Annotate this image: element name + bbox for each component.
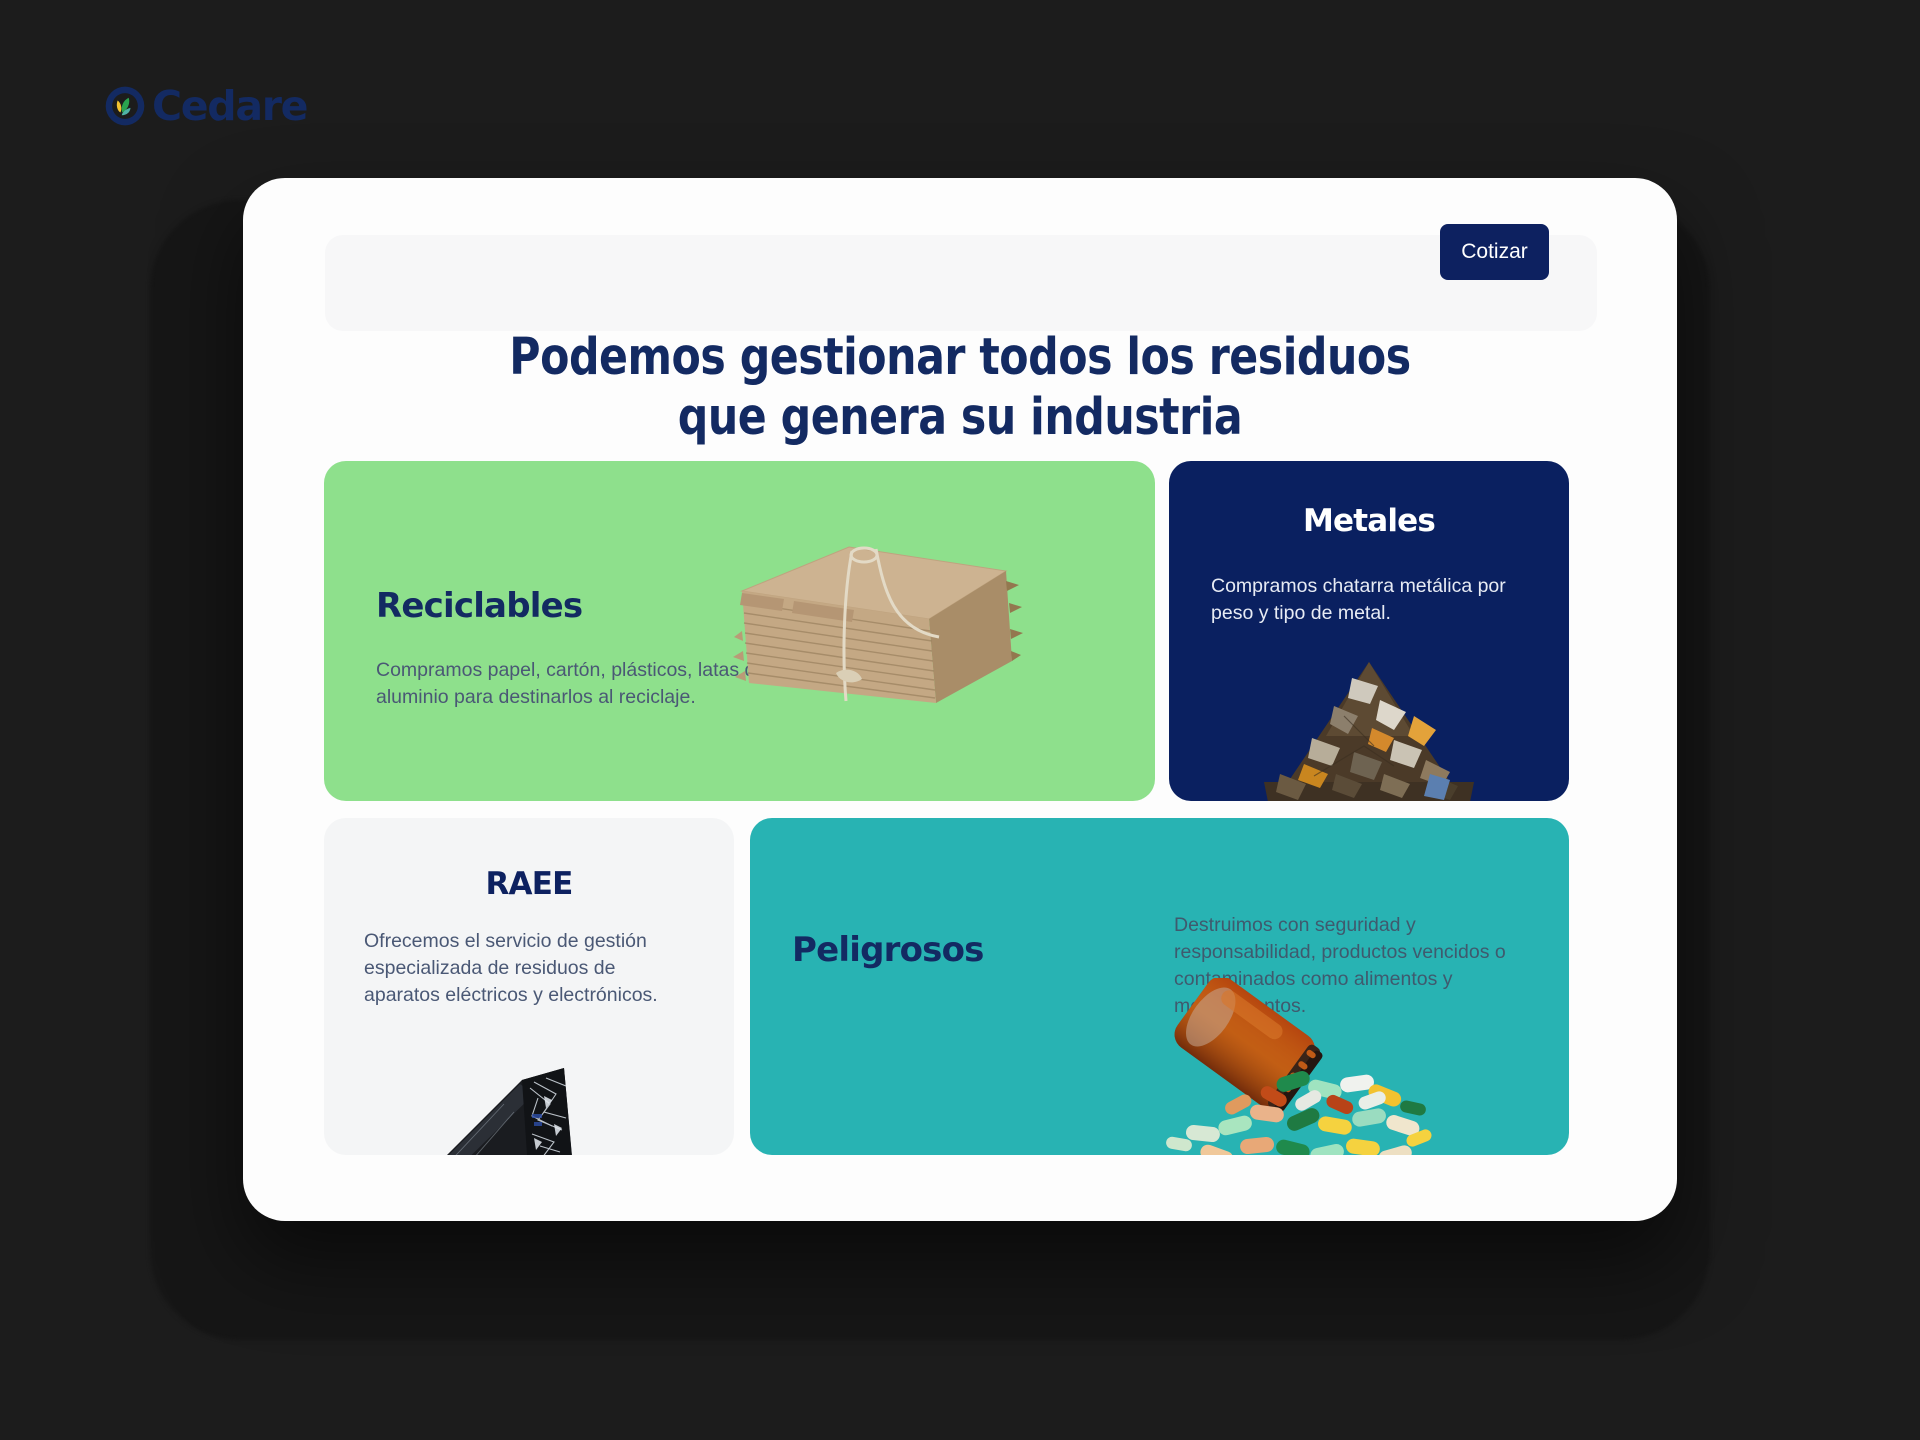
card-raee-body: Ofrecemos el servicio de gestión especia… — [364, 928, 694, 1009]
broken-smartphone-image — [414, 1038, 664, 1155]
card-raee[interactable]: RAEE Ofrecemos el servicio de gestión es… — [324, 818, 734, 1155]
card-metales-title: Metales — [1169, 503, 1569, 539]
card-metales[interactable]: Metales Compramos chatarra metálica por … — [1169, 461, 1569, 801]
page-title-line-2: que genera su industria — [293, 388, 1627, 448]
screen-background: Cedare Cotizar Podemos gestionar todos l… — [0, 0, 1920, 1440]
page-title: Podemos gestionar todos los residuos que… — [293, 328, 1627, 448]
card-raee-title: RAEE — [324, 866, 734, 902]
brand-wordmark: Cedare — [152, 82, 307, 130]
card-reciclables[interactable]: Reciclables Compramos papel, cartón, plá… — [324, 461, 1155, 801]
card-reciclables-body: Compramos papel, cartón, plásticos, lata… — [376, 657, 776, 711]
card-metales-body: Compramos chatarra metálica por peso y t… — [1211, 573, 1511, 627]
card-reciclables-title: Reciclables — [376, 586, 582, 626]
bundled-cardboard-stack-image — [724, 533, 1024, 723]
scrap-metal-pile-image — [1244, 656, 1494, 801]
cotizar-button[interactable]: Cotizar — [1440, 224, 1549, 280]
card-peligrosos-title: Peligrosos — [792, 930, 984, 970]
brand-logo[interactable]: Cedare — [102, 81, 307, 131]
spilled-pill-bottle-image — [1100, 978, 1440, 1155]
cedare-recycle-leaf-logo-icon — [102, 83, 148, 129]
page-title-line-1: Podemos gestionar todos los residuos — [293, 328, 1627, 388]
header-bar — [325, 235, 1597, 331]
card-peligrosos[interactable]: Peligrosos Destruimos con seguridad y re… — [750, 818, 1569, 1155]
